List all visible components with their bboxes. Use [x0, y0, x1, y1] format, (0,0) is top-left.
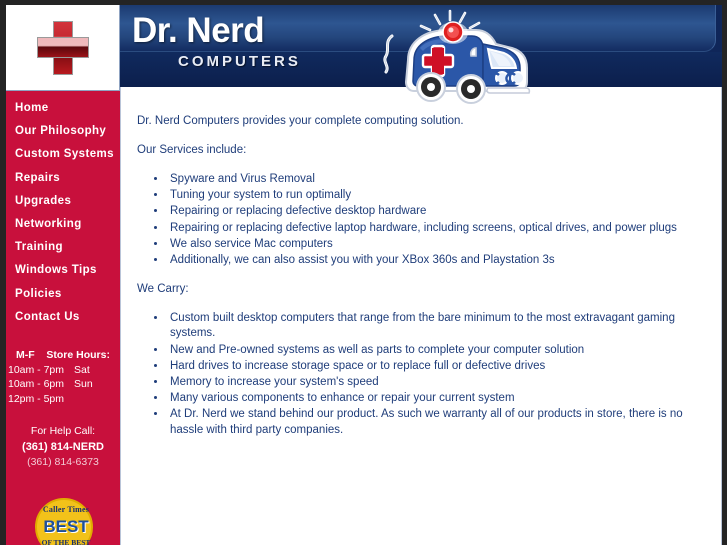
- store-hours-row: 10am - 7pmSat: [8, 363, 120, 378]
- store-hours-mf-label: M-F: [16, 349, 35, 361]
- sidebar-item-policies[interactable]: Policies: [6, 283, 120, 306]
- brand-wordmark: Dr. Nerd: [132, 11, 264, 51]
- list-item: Memory to increase your system's speed: [167, 375, 703, 390]
- list-item: At Dr. Nerd we stand behind our product.…: [167, 407, 703, 437]
- sidebar-item-networking[interactable]: Networking: [6, 213, 120, 236]
- list-item: New and Pre-owned systems as well as par…: [167, 343, 703, 358]
- sidebar: Home Our Philosophy Custom Systems Repai…: [6, 5, 120, 545]
- red-cross-horizontal-bar: [37, 37, 89, 58]
- help-call-block: For Help Call: (361) 814-NERD (361) 814-…: [6, 424, 120, 471]
- store-hours-time: 10am - 7pm: [8, 363, 74, 378]
- store-hours-heading: M-F Store Hours:: [6, 348, 120, 363]
- services-heading: Our Services include:: [137, 143, 703, 157]
- badge-top-text: Caller Times: [37, 505, 95, 514]
- store-hours-title: Store Hours:: [46, 349, 110, 361]
- help-phone-numeric[interactable]: (361) 814-6373: [6, 455, 120, 471]
- carry-heading: We Carry:: [137, 282, 703, 296]
- sidebar-item-training[interactable]: Training: [6, 236, 120, 259]
- brand-wordmark-sub: COMPUTERS: [178, 53, 301, 70]
- badge-main-text: BEST: [37, 517, 95, 537]
- sidebar-item-repairs[interactable]: Repairs: [6, 167, 120, 190]
- list-item: Spyware and Virus Removal: [167, 172, 703, 187]
- main-content: Dr. Nerd Computers provides your complet…: [120, 87, 722, 545]
- list-item: Tuning your system to run optimally: [167, 188, 703, 203]
- store-hours-row: 12pm - 5pm: [8, 392, 120, 407]
- list-item: Hard drives to increase storage space or…: [167, 359, 703, 374]
- sidebar-item-contact-us[interactable]: Contact Us: [6, 306, 120, 329]
- store-hours-day: Sat: [74, 364, 90, 376]
- store-hours-time: 12pm - 5pm: [8, 392, 74, 407]
- sidebar-item-upgrades[interactable]: Upgrades: [6, 190, 120, 213]
- carry-list: Custom built desktop computers that rang…: [137, 311, 703, 438]
- red-cross-icon: [34, 19, 92, 77]
- store-hours-row: 10am - 6pmSun: [8, 377, 120, 392]
- intro-paragraph: Dr. Nerd Computers provides your complet…: [137, 114, 703, 128]
- site-logo[interactable]: [6, 5, 120, 91]
- sidebar-item-our-philosophy[interactable]: Our Philosophy: [6, 120, 120, 143]
- sidebar-item-home[interactable]: Home: [6, 97, 120, 120]
- sidebar-item-custom-systems[interactable]: Custom Systems: [6, 143, 120, 166]
- cartoon-ambulance-icon: [380, 8, 535, 112]
- store-hours-time: 10am - 6pm: [8, 377, 74, 392]
- list-item: Additionally, we can also assist you wit…: [167, 253, 703, 268]
- main-navigation: Home Our Philosophy Custom Systems Repai…: [6, 97, 120, 329]
- best-of-the-best-award-badge: Caller Times BEST OF THE BEST: [32, 497, 98, 545]
- help-phone-vanity[interactable]: (361) 814-NERD: [6, 440, 120, 456]
- list-item: Custom built desktop computers that rang…: [167, 311, 703, 341]
- store-hours-block: M-F Store Hours: 10am - 7pmSat 10am - 6p…: [6, 348, 120, 406]
- badge-rosette-icon: Caller Times BEST OF THE BEST: [35, 498, 93, 545]
- services-list: Spyware and Virus Removal Tuning your sy…: [137, 172, 703, 268]
- list-item: Repairing or replacing defective desktop…: [167, 204, 703, 219]
- badge-bottom-text: OF THE BEST: [37, 538, 95, 545]
- help-call-title: For Help Call:: [6, 424, 120, 440]
- sidebar-item-windows-tips[interactable]: Windows Tips: [6, 259, 120, 282]
- store-hours-day: Sun: [74, 378, 93, 390]
- list-item: Repairing or replacing defective laptop …: [167, 221, 703, 236]
- list-item: Many various components to enhance or re…: [167, 391, 703, 406]
- list-item: We also service Mac computers: [167, 237, 703, 252]
- page-root: Home Our Philosophy Custom Systems Repai…: [0, 0, 727, 545]
